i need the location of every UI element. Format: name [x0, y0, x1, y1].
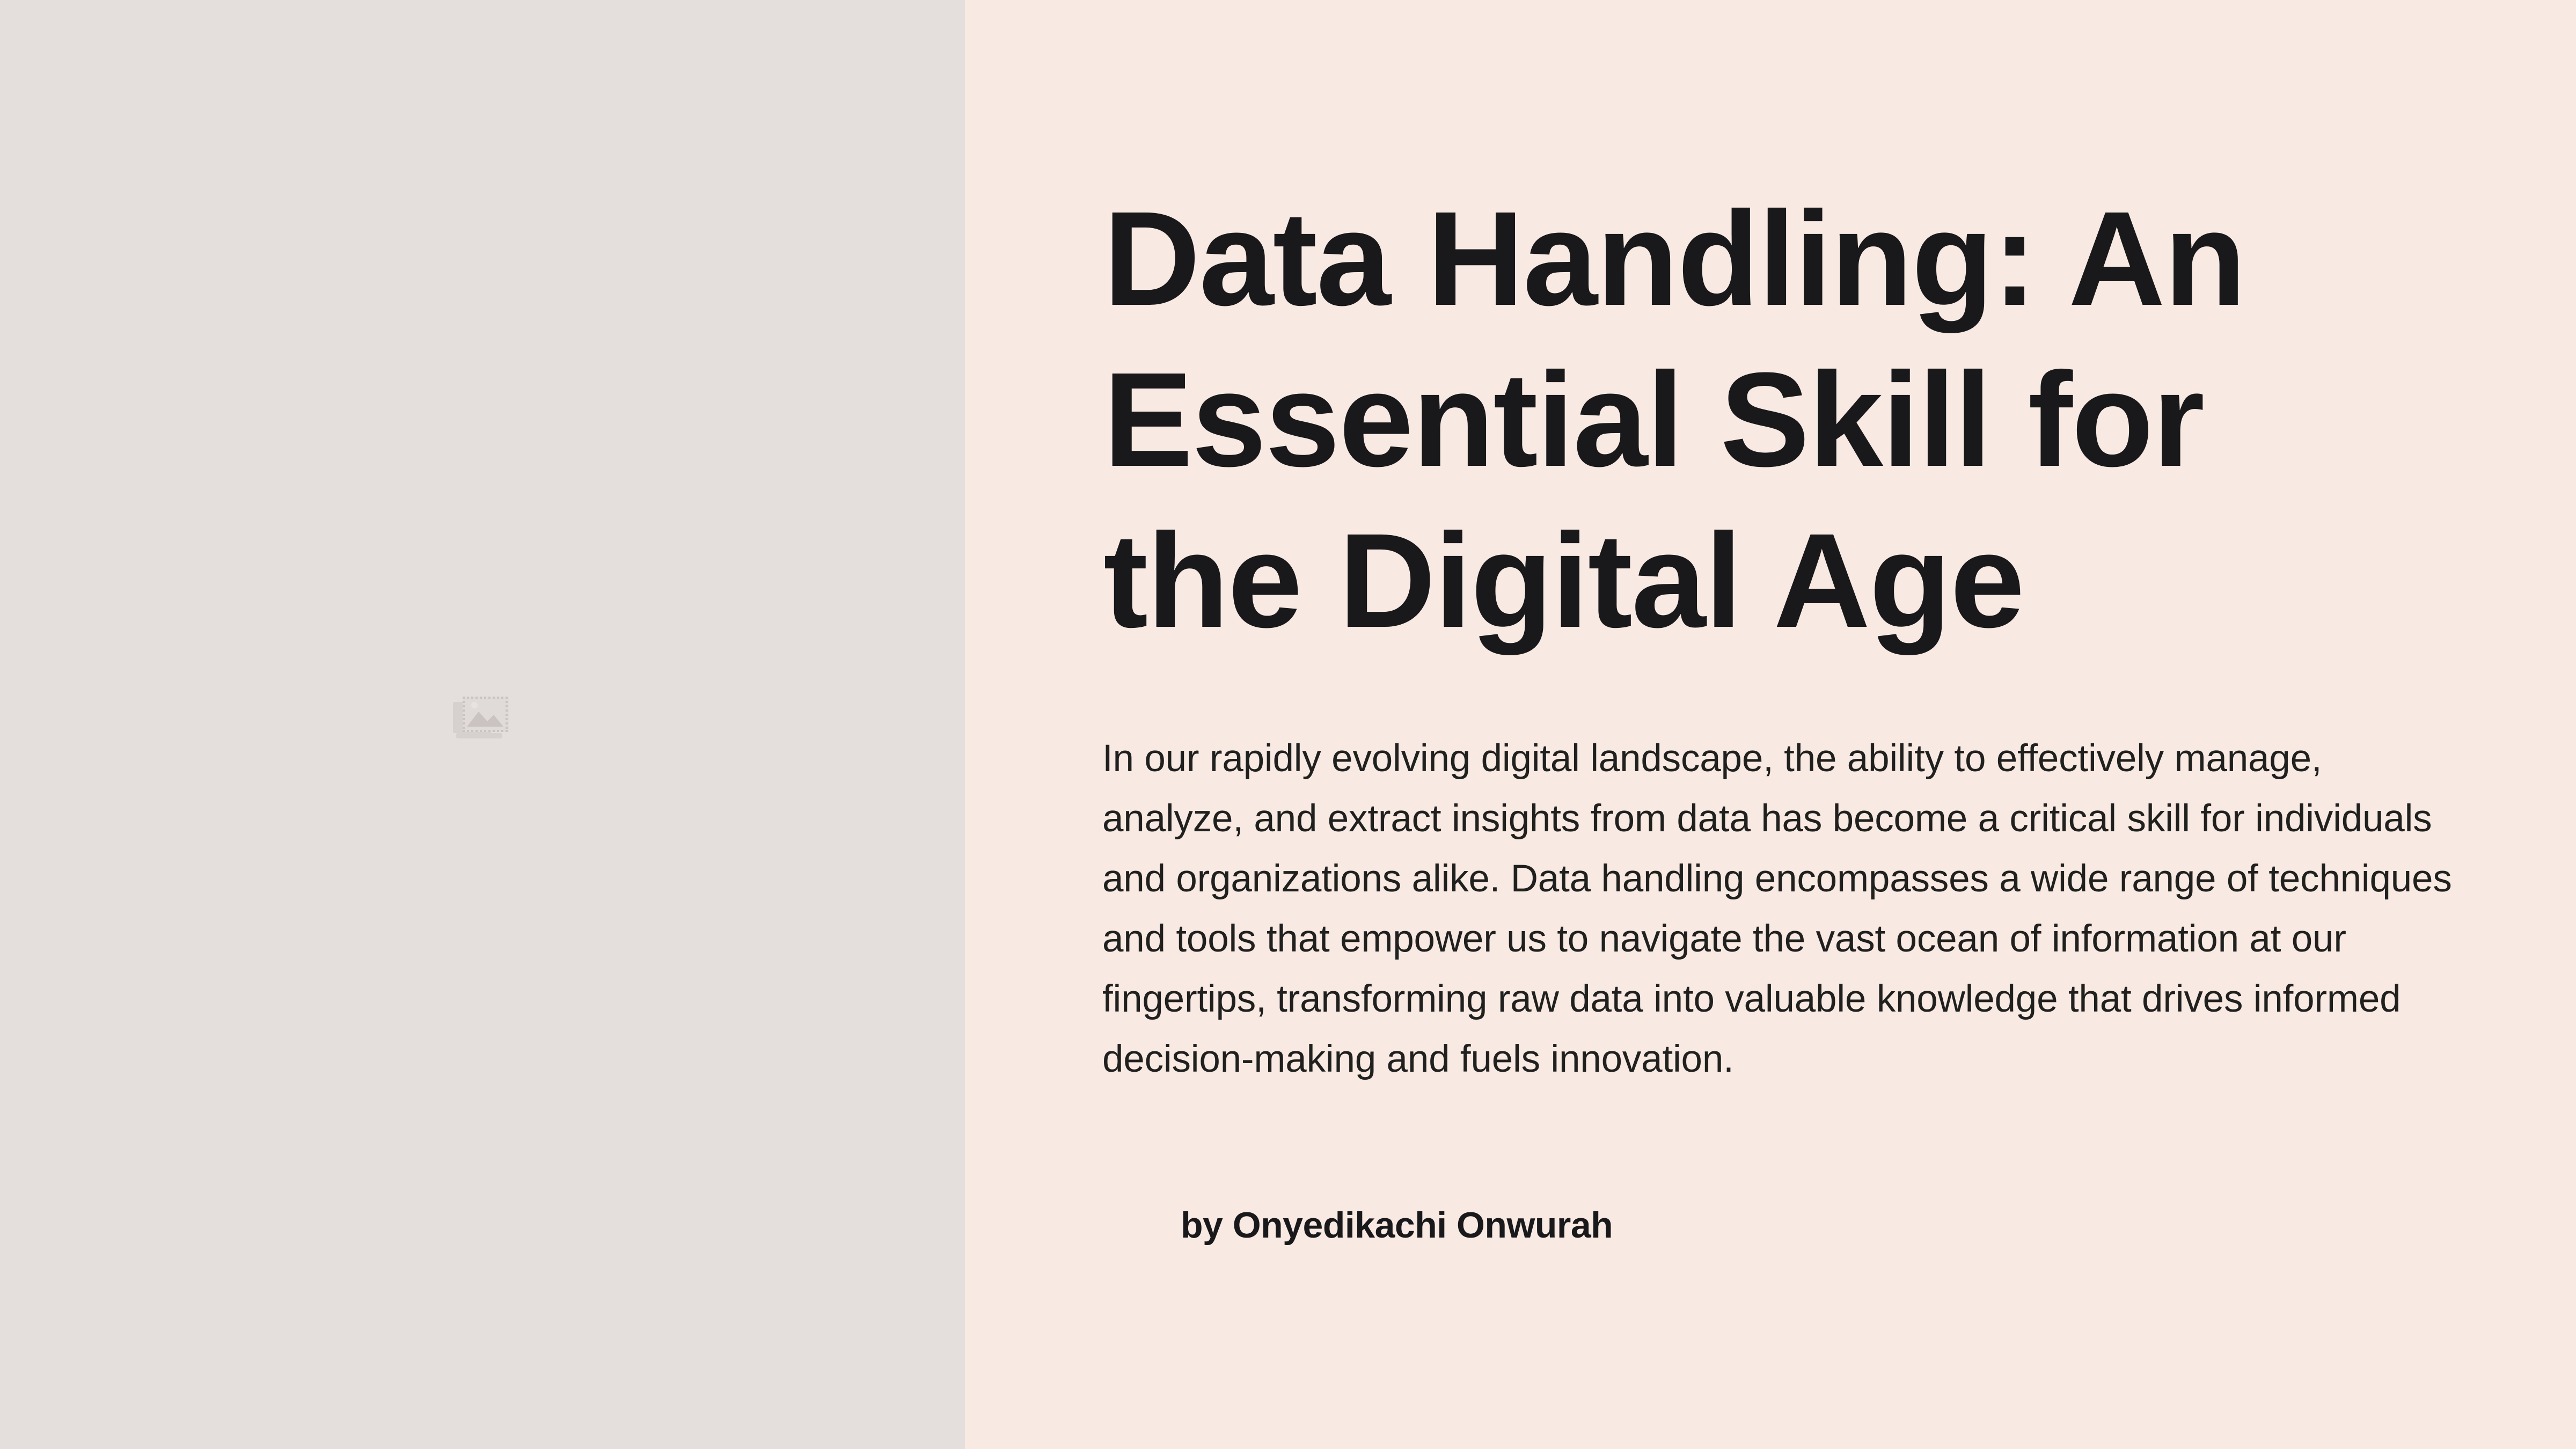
author-byline: by Onyedikachi Onwurah: [1181, 1199, 1613, 1251]
cover-image-panel: [0, 0, 965, 1449]
article-summary: In our rapidly evolving digital landscap…: [1102, 729, 2452, 1089]
broken-image-placeholder-icon: [449, 693, 513, 747]
article-cover-slide: Data Handling: An Essential Skill for th…: [0, 0, 2576, 1449]
cover-text-panel: Data Handling: An Essential Skill for th…: [965, 0, 2576, 1449]
page-title: Data Handling: An Essential Skill for th…: [1103, 178, 2348, 661]
